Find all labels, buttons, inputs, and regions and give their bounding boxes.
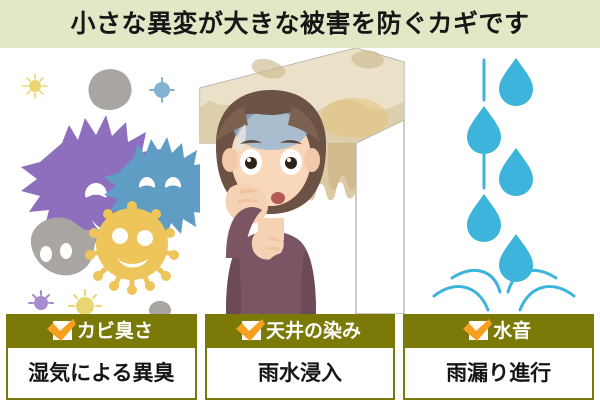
ceiling-stain-woman-illustration <box>196 48 408 314</box>
symptom-card-2: 天井の染み 雨水浸入 <box>205 314 396 400</box>
symptom-card-2-title: 天井の染み <box>266 322 361 341</box>
illustration-band <box>0 48 600 314</box>
orange-check-icon <box>50 320 72 342</box>
symptom-card-3-title: 水音 <box>493 322 531 341</box>
symptom-card-1-header: カビ臭さ <box>6 314 197 348</box>
infographic-page: 小さな異変が大きな被害を防ぐカギです <box>0 0 600 400</box>
header-banner: 小さな異変が大きな被害を防ぐカギです <box>0 0 600 48</box>
symptom-card-2-text: 雨水浸入 <box>258 363 342 384</box>
page-title: 小さな異変が大きな被害を防ぐカギです <box>70 12 529 37</box>
symptom-card-1-body: 湿気による異臭 <box>6 348 197 400</box>
orange-check-icon <box>239 320 261 342</box>
symptom-cards-row: カビ臭さ 湿気による異臭 天井の染み 雨水浸入 <box>0 314 600 400</box>
symptom-card-3: 水音 雨漏り進行 <box>403 314 594 400</box>
small-speck-blue-icon <box>150 78 174 102</box>
symptom-card-3-header: 水音 <box>403 314 594 348</box>
water-drops-illustration <box>408 48 600 314</box>
symptom-card-3-body: 雨漏り進行 <box>403 348 594 400</box>
mold-germs-illustration <box>0 48 200 314</box>
gray-blob-germ-icon <box>89 69 132 110</box>
symptom-card-2-body: 雨水浸入 <box>205 348 396 400</box>
small-speck-purple-icon <box>29 291 53 310</box>
symptom-card-3-text: 雨漏り進行 <box>446 363 551 384</box>
small-speck-yellow-2-icon <box>69 290 101 314</box>
symptom-card-1-text: 湿気による異臭 <box>28 363 174 384</box>
worried-woman-figure <box>216 90 326 314</box>
symptom-card-2-header: 天井の染み <box>205 314 396 348</box>
symptom-card-1-title: カビ臭さ <box>77 322 153 341</box>
symptom-card-1: カビ臭さ 湿気による異臭 <box>6 314 197 400</box>
small-speck-gray-icon <box>149 301 171 314</box>
water-droplet-icon <box>467 58 533 282</box>
small-speck-yellow-icon <box>23 74 47 98</box>
orange-check-icon <box>466 320 488 342</box>
